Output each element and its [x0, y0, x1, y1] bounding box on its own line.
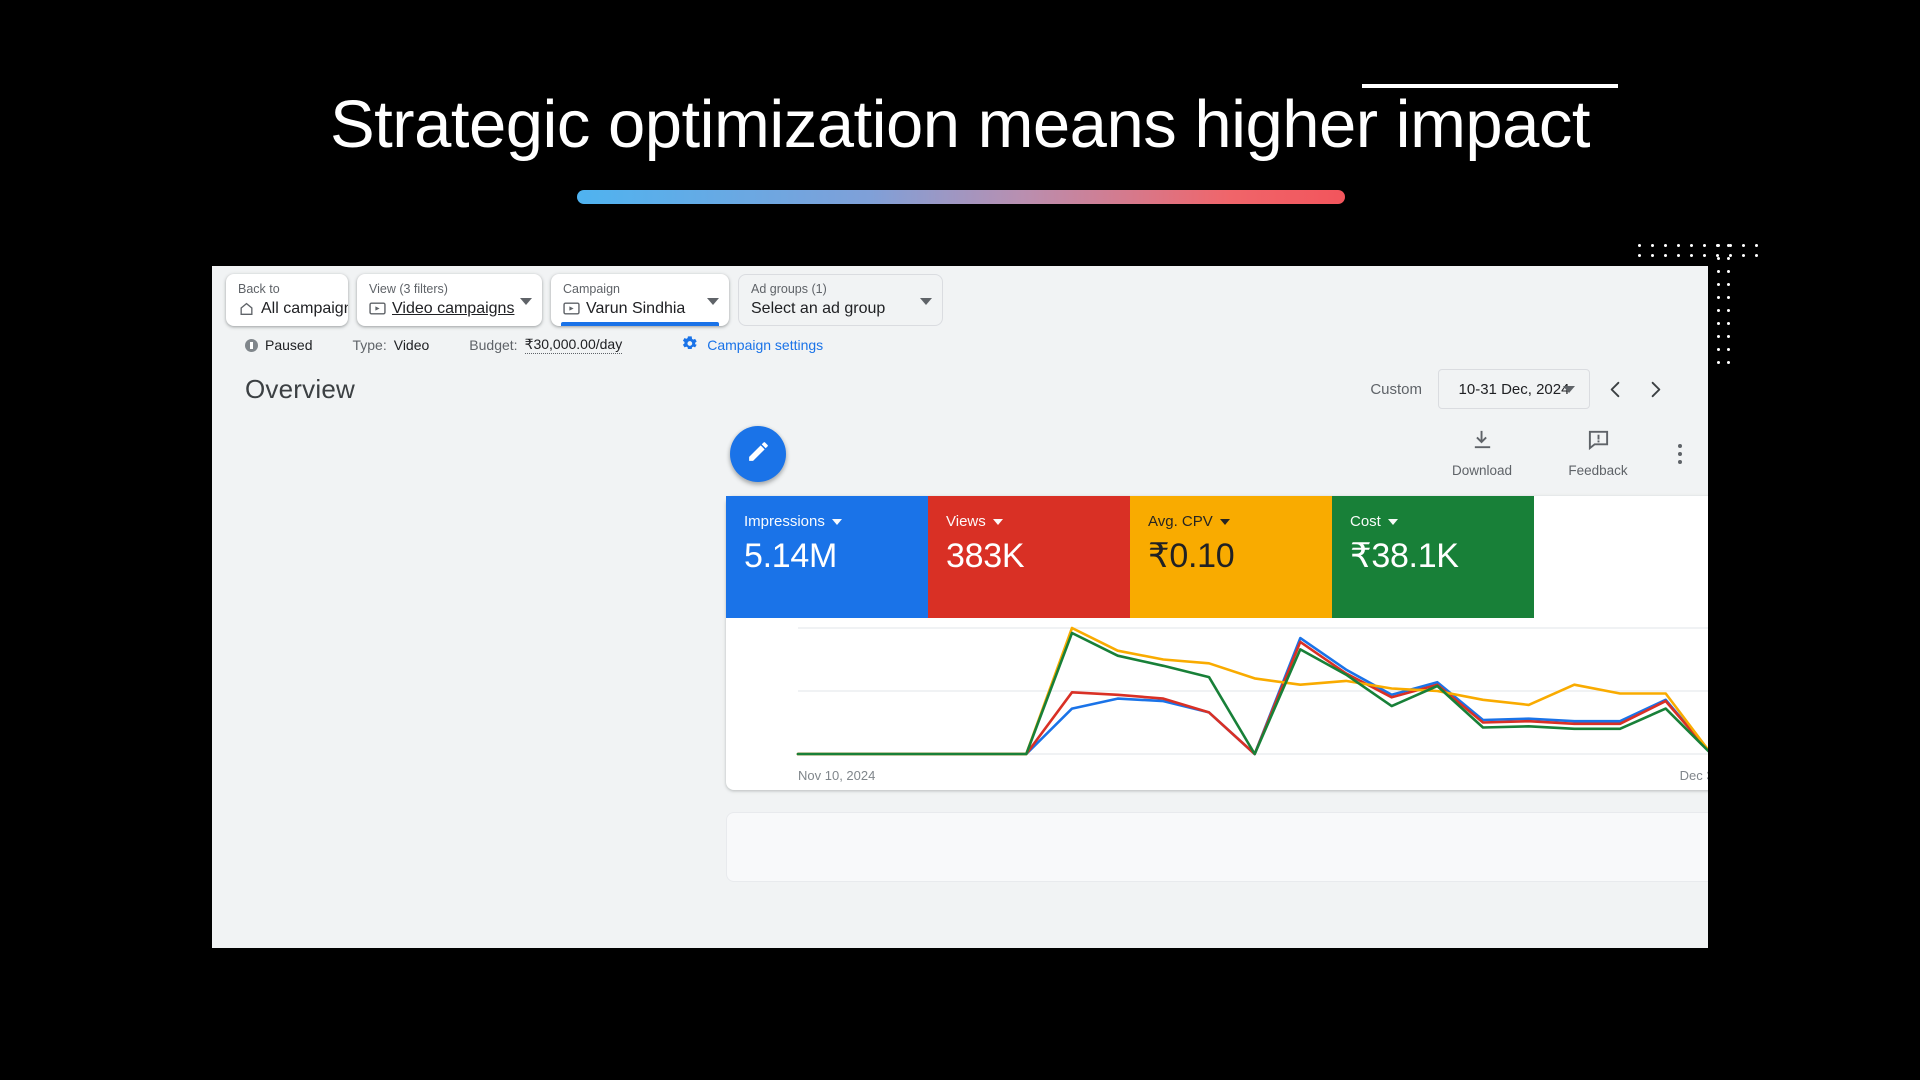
metric-value-impressions: 5.14M	[744, 535, 912, 577]
edit-fab-button[interactable]	[730, 426, 786, 482]
feedback-button[interactable]: Feedback	[1565, 428, 1631, 478]
campaign-budget: Budget: ₹30,000.00/day	[469, 336, 622, 354]
date-range-value: 10-31 Dec, 2024	[1459, 381, 1570, 398]
google-ads-panel: Back to All campaigns View (3 filters) V…	[212, 266, 1708, 948]
metric-label: Views	[946, 513, 986, 530]
metric-tile-cost[interactable]: Cost ₹38.1K	[1332, 496, 1534, 618]
back-to-value: All campaigns	[261, 299, 348, 318]
metric-value-avg-cpv: ₹0.10	[1148, 535, 1316, 577]
chart-x-end-label: Dec 31, 2024	[1680, 768, 1708, 783]
ad-groups-value: Select an ad group	[751, 299, 885, 318]
campaign-selector-toolbar: Back to All campaigns View (3 filters) V…	[212, 266, 1708, 328]
download-icon	[1471, 428, 1494, 456]
feedback-label: Feedback	[1568, 463, 1627, 478]
chevron-down-icon[interactable]	[993, 519, 1003, 525]
campaign-type: Type: Video	[352, 337, 429, 353]
chart-svg	[726, 618, 1708, 768]
chevron-down-icon[interactable]	[832, 519, 842, 525]
chevron-down-icon[interactable]	[920, 298, 932, 305]
pencil-icon	[746, 439, 771, 469]
download-button[interactable]: Download	[1449, 428, 1515, 478]
campaign-settings-label: Campaign settings	[707, 337, 823, 353]
chevron-down-icon[interactable]	[1388, 519, 1398, 525]
metric-name-avg-cpv[interactable]: Avg. CPV	[1148, 513, 1316, 530]
chevron-down-icon[interactable]	[520, 298, 532, 305]
chart-series-views	[798, 642, 1708, 754]
metric-label: Avg. CPV	[1148, 513, 1213, 530]
chevron-down-icon[interactable]	[707, 298, 719, 305]
feedback-icon	[1587, 428, 1610, 456]
title-gradient-bar	[577, 190, 1345, 204]
custom-range-label: Custom	[1370, 381, 1422, 398]
status-badge: Paused	[245, 337, 312, 353]
view-label: View (3 filters)	[369, 282, 514, 297]
chart-series-cost	[798, 633, 1708, 754]
overview-title: Overview	[245, 374, 355, 405]
campaign-label: Campaign	[563, 282, 701, 297]
video-icon	[369, 301, 386, 316]
view-filter-chip[interactable]: View (3 filters) Video campaigns	[357, 274, 542, 326]
slide-root: Strategic optimization means higher impa…	[0, 0, 1920, 1080]
date-range-controls: Custom 10-31 Dec, 2024	[1370, 369, 1670, 409]
date-range-selector[interactable]: 10-31 Dec, 2024	[1438, 369, 1590, 409]
video-icon	[563, 301, 580, 316]
gear-icon	[680, 334, 699, 356]
metric-name-views[interactable]: Views	[946, 513, 1114, 530]
chart-axis-labels: Nov 10, 2024 Dec 31, 2024	[726, 768, 1708, 783]
campaign-value: Varun Sindhia	[586, 299, 685, 318]
pause-icon	[245, 339, 258, 352]
chart-series-impressions	[798, 638, 1708, 754]
active-indicator	[561, 322, 719, 326]
metric-tile-avg-cpv[interactable]: Avg. CPV ₹0.10	[1130, 496, 1332, 618]
home-icon	[238, 301, 255, 316]
back-to-all-campaigns-chip[interactable]: Back to All campaigns	[226, 274, 348, 326]
metric-tile-impressions[interactable]: Impressions 5.14M	[726, 496, 928, 618]
type-value: Video	[394, 337, 430, 353]
campaign-status-bar: Paused Type: Video Budget: ₹30,000.00/da…	[212, 328, 1708, 362]
chart-x-start-label: Nov 10, 2024	[798, 768, 875, 783]
next-period-button[interactable]	[1640, 372, 1670, 406]
ad-groups-chip[interactable]: Ad groups (1) Select an ad group	[738, 274, 943, 326]
budget-value[interactable]: ₹30,000.00/day	[525, 336, 623, 354]
ad-groups-label: Ad groups (1)	[751, 282, 914, 297]
card-actions: Download Feedback	[1449, 428, 1631, 478]
overview-header: Overview Custom 10-31 Dec, 2024	[212, 362, 1708, 416]
prev-period-button[interactable]	[1600, 372, 1630, 406]
status-state-text: Paused	[265, 337, 312, 353]
metric-value-views: 383K	[946, 535, 1114, 577]
view-value[interactable]: Video campaigns	[392, 299, 514, 318]
next-section-card	[726, 812, 1708, 882]
type-key: Type:	[352, 337, 386, 353]
budget-key: Budget:	[469, 337, 517, 353]
metric-value-cost: ₹38.1K	[1350, 535, 1518, 577]
chevron-down-icon[interactable]	[1563, 386, 1575, 393]
chevron-down-icon[interactable]	[1220, 519, 1230, 525]
performance-line-chart[interactable]: Nov 10, 2024 Dec 31, 2024	[726, 618, 1708, 790]
metric-tile-views[interactable]: Views 383K	[928, 496, 1130, 618]
download-label: Download	[1452, 463, 1512, 478]
metric-name-impressions[interactable]: Impressions	[744, 513, 912, 530]
metric-label: Impressions	[744, 513, 825, 530]
kebab-menu-icon[interactable]	[1678, 444, 1682, 464]
campaign-settings-link[interactable]: Campaign settings	[680, 334, 823, 356]
campaign-chip[interactable]: Campaign Varun Sindhia	[551, 274, 729, 326]
page-title: Strategic optimization means higher impa…	[0, 88, 1920, 162]
metric-name-cost[interactable]: Cost	[1350, 513, 1518, 530]
metric-label: Cost	[1350, 513, 1381, 530]
back-to-label: Back to	[238, 282, 336, 297]
